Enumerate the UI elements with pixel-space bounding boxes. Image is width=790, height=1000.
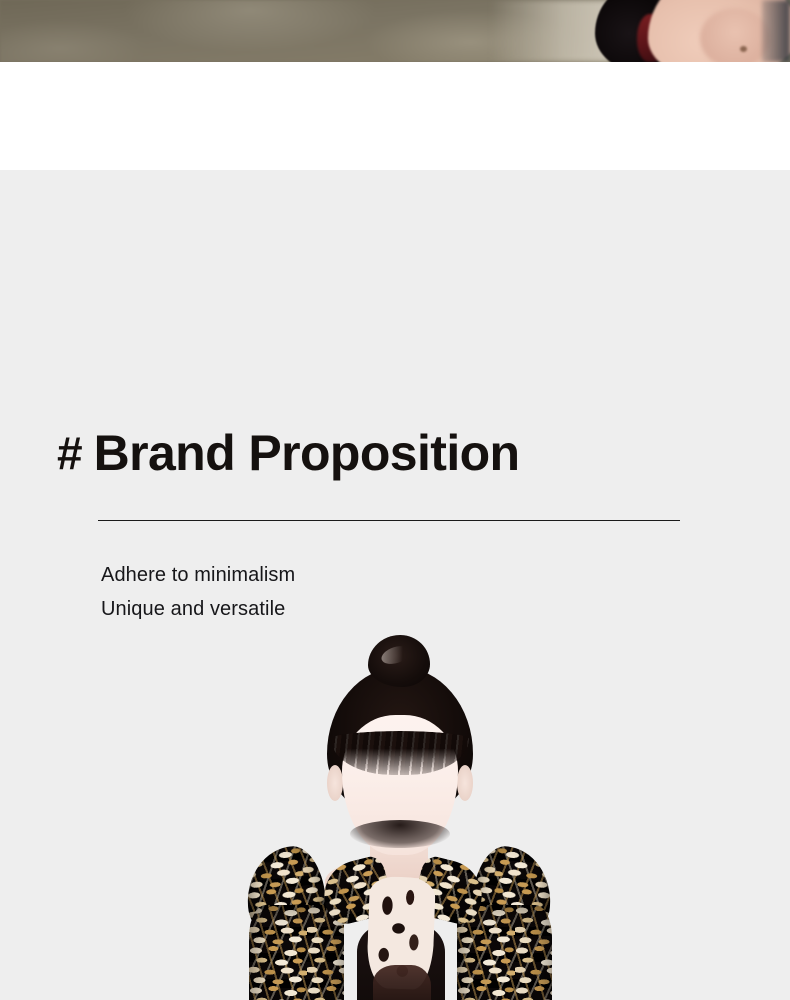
hash-symbol: #	[57, 427, 83, 479]
subtitle-line-1: Adhere to minimalism	[101, 558, 295, 592]
photo-shoulder-skin-shape	[700, 8, 770, 62]
jaw-shadow-shape	[350, 820, 450, 848]
white-spacer	[0, 62, 790, 170]
scarf-tail-shape	[373, 965, 431, 1000]
heading-underline	[98, 520, 680, 521]
photo-skin-mark	[740, 46, 747, 52]
cropped-photo-strip	[0, 0, 790, 62]
right-ear-shape	[457, 765, 473, 801]
left-jacket-panel	[249, 905, 344, 1000]
subtitle-line-2: Unique and versatile	[101, 592, 295, 626]
photo-right-dark-edge	[762, 0, 790, 62]
page-root: #Brand Proposition Adhere to minimalism …	[0, 0, 790, 1000]
brand-proposition-section: #Brand Proposition Adhere to minimalism …	[0, 170, 790, 1000]
page-title-text: Brand Proposition	[94, 425, 520, 481]
model-illustration	[205, 625, 595, 1000]
photo-light-wall-highlight	[490, 0, 610, 62]
left-ear-shape	[327, 765, 343, 801]
page-title: #Brand Proposition	[57, 428, 520, 478]
subtitle-block: Adhere to minimalism Unique and versatil…	[101, 558, 295, 626]
